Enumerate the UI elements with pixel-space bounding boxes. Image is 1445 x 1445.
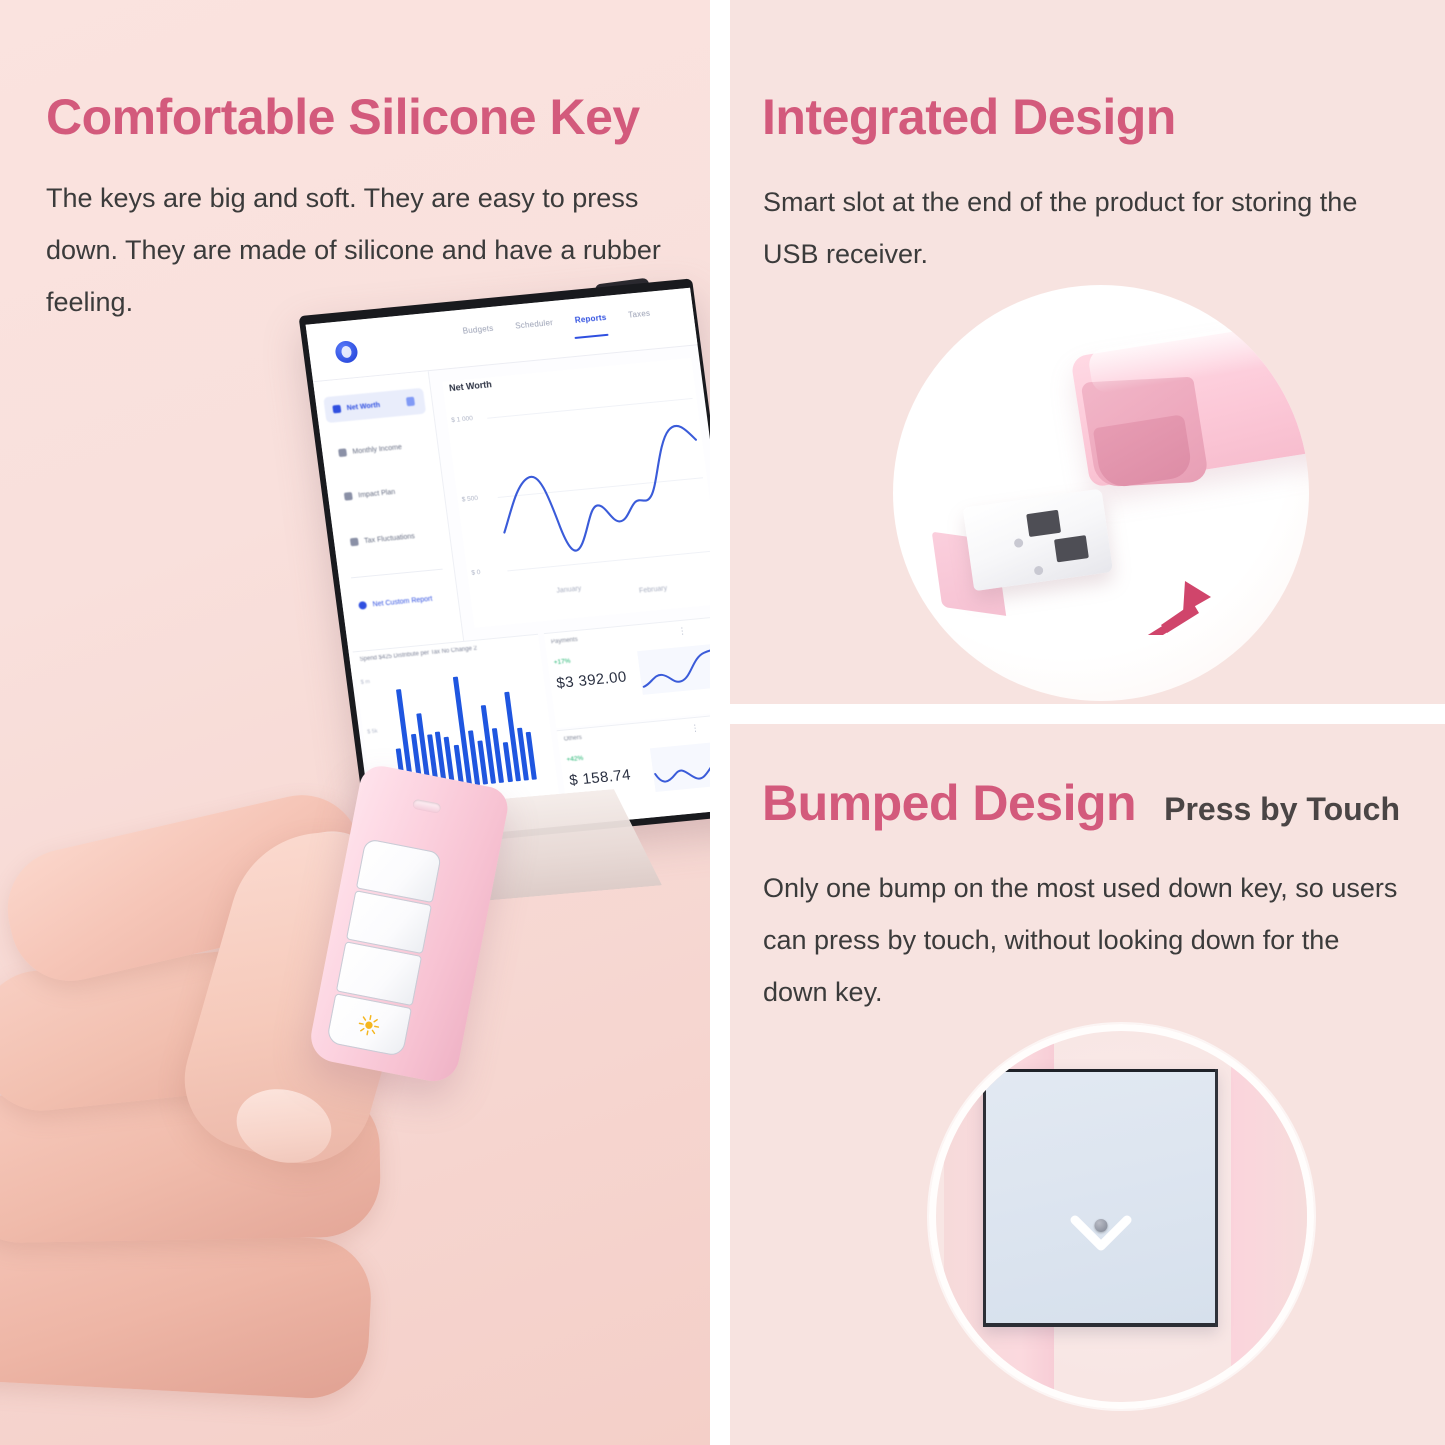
dashboard-logo-icon xyxy=(334,340,359,364)
sidebar-divider xyxy=(351,569,443,579)
sidebar-item-monthly-income[interactable]: Monthly Income xyxy=(329,431,432,466)
dashboard-tabs: Budgets Scheduler Reports Taxes xyxy=(462,309,651,336)
press-by-touch-subheading: Press by Touch xyxy=(1164,791,1400,828)
usb-notch xyxy=(1014,538,1024,548)
panel-integrated-design: Integrated Design Smart slot at the end … xyxy=(730,0,1445,704)
insert-arrow-icon xyxy=(1141,575,1221,635)
tab-taxes[interactable]: Taxes xyxy=(628,309,651,320)
sidebar-item-tax-fluctuations[interactable]: Tax Fluctuations xyxy=(341,521,444,556)
down-key[interactable] xyxy=(983,1069,1218,1327)
chart-icon xyxy=(332,405,341,414)
stat-delta: +17% xyxy=(553,658,571,667)
bumped-design-body: Only one bump on the most used down key,… xyxy=(763,862,1408,1018)
sidebar-label: Net Custom Report xyxy=(372,595,433,608)
usb-notch xyxy=(1034,565,1044,575)
bumped-key-photo xyxy=(929,1024,1314,1409)
bumped-design-heading: Bumped Design xyxy=(762,774,1136,832)
net-worth-title: Net Worth xyxy=(448,379,492,393)
spark-wave-icon xyxy=(649,736,710,796)
doc-icon xyxy=(350,538,359,547)
usb-pin xyxy=(1054,535,1089,562)
sidebar-label: Tax Fluctuations xyxy=(364,533,415,545)
sidebar-badge-icon xyxy=(406,397,415,407)
overflow-menu-icon[interactable]: ⋮ xyxy=(690,726,699,731)
sidebar-label: Impact Plan xyxy=(358,488,396,498)
payments-stat-card: Payments +17% $3 392.00 ⋮ xyxy=(544,615,710,728)
y-tick: $ 500 xyxy=(461,495,478,504)
y-tick: $ 0 xyxy=(471,569,481,577)
line-icon xyxy=(338,448,347,457)
integrated-design-body: Smart slot at the end of the product for… xyxy=(763,176,1363,280)
bump-dot-icon xyxy=(1094,1219,1107,1232)
plus-circle-icon xyxy=(358,601,367,610)
x-tick: January xyxy=(556,585,582,594)
y-tick: $ 1 000 xyxy=(451,415,474,424)
infographic-page: Comfortable Silicone Key The keys are bi… xyxy=(0,0,1445,1445)
panel-silicone-key: Comfortable Silicone Key The keys are bi… xyxy=(0,0,710,1445)
silicone-key-heading: Comfortable Silicone Key xyxy=(46,88,640,146)
usb-receiver-icon xyxy=(929,488,1117,610)
stat-value: $ 158.74 xyxy=(568,766,632,789)
tab-reports[interactable]: Reports xyxy=(574,313,607,325)
logo-inner-shape xyxy=(341,346,353,359)
bar-card-title: Spend $425 Distribute per Tax No Change … xyxy=(359,646,477,663)
presenter-edge-right xyxy=(1231,1031,1307,1409)
usb-slot-photo xyxy=(893,285,1309,701)
bumped-design-header-row: Bumped Design Press by Touch xyxy=(762,774,1400,832)
spark-up-icon xyxy=(637,638,710,698)
net-worth-line-chart xyxy=(487,396,710,574)
y-tick: $ 5k xyxy=(367,728,378,735)
stat-delta: +42% xyxy=(566,755,584,764)
net-worth-card: Net Worth $ 1 000 $ 500 $ 0 January Febr… xyxy=(442,358,710,628)
x-tick: February xyxy=(639,585,668,595)
integrated-design-heading: Integrated Design xyxy=(762,88,1176,146)
stat-label: Payments xyxy=(551,637,578,646)
y-tick: $ m xyxy=(360,679,370,686)
panel-bumped-design: Bumped Design Press by Touch Only one bu… xyxy=(730,724,1445,1445)
laser-icon xyxy=(356,1012,382,1038)
sidebar-label: Monthly Income xyxy=(352,444,402,456)
usb-pin xyxy=(1026,510,1061,537)
usb-connector xyxy=(963,489,1113,592)
sidebar-item-net-worth[interactable]: Net Worth xyxy=(323,388,426,423)
sidebar-item-impact-plan[interactable]: Impact Plan xyxy=(335,475,438,510)
dashboard-sidebar: Net Worth Monthly Income Impact Plan Tax… xyxy=(313,371,468,680)
tab-scheduler[interactable]: Scheduler xyxy=(515,318,554,331)
tab-budgets[interactable]: Budgets xyxy=(462,324,494,336)
stat-value: $3 392.00 xyxy=(555,668,627,692)
overflow-menu-icon[interactable]: ⋮ xyxy=(678,628,687,633)
stat-label: Others xyxy=(564,735,583,743)
sidebar-label: Net Worth xyxy=(346,401,380,411)
sidebar-item-custom-report[interactable]: Net Custom Report xyxy=(349,584,452,619)
target-icon xyxy=(344,492,353,501)
pinky-finger xyxy=(0,1219,374,1401)
